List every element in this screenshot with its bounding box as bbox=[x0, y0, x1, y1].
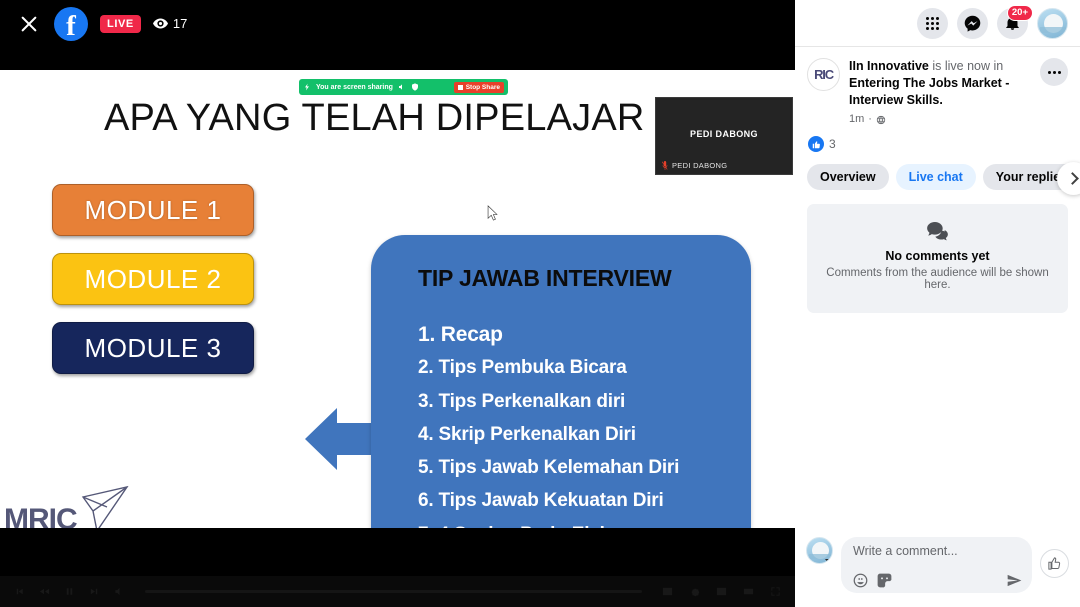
page-avatar[interactable]: RIC bbox=[807, 58, 840, 91]
microphone-muted-icon bbox=[662, 161, 668, 170]
module-box-1: MODULE 1 bbox=[52, 184, 254, 236]
tab-live-chat[interactable]: Live chat bbox=[896, 164, 976, 190]
sidebar-top-nav: 20+ bbox=[795, 0, 1080, 47]
messenger-icon[interactable] bbox=[957, 8, 988, 39]
theater-mode-icon[interactable] bbox=[743, 586, 754, 597]
mric-logo-text: MRIC bbox=[4, 503, 77, 528]
facebook-live-producer: f LIVE 17 APA YANG TELAH DIPELAJAR MODUL… bbox=[0, 0, 1080, 607]
left-arrow-icon bbox=[305, 408, 377, 470]
post-header: RIC IIn Innovative is live now in Enteri… bbox=[795, 47, 1080, 128]
video-player-controls[interactable] bbox=[0, 576, 795, 607]
close-icon[interactable] bbox=[16, 11, 42, 37]
tabs-next-icon[interactable] bbox=[1057, 162, 1080, 195]
eye-icon bbox=[153, 18, 168, 29]
shield-icon[interactable] bbox=[411, 83, 419, 91]
reaction-count: 3 bbox=[829, 137, 836, 151]
list-item: 6. Tips Jawab Kekuatan Diri bbox=[418, 484, 751, 517]
tab-overview[interactable]: Overview bbox=[807, 164, 889, 190]
notification-badge: 20+ bbox=[1007, 5, 1033, 21]
tips-card-heading: TIP JAWAB INTERVIEW bbox=[418, 265, 751, 292]
emoji-icon[interactable] bbox=[853, 573, 868, 588]
viewer-count-group: 17 bbox=[153, 16, 187, 31]
stop-share-label: Stop Share bbox=[466, 84, 500, 91]
module-box-2: MODULE 2 bbox=[52, 253, 254, 305]
seek-bar[interactable] bbox=[145, 590, 642, 593]
speaker-icon[interactable] bbox=[398, 83, 406, 91]
chevron-down-icon[interactable] bbox=[825, 559, 833, 564]
fullscreen-icon[interactable] bbox=[770, 586, 781, 597]
composer-icons bbox=[853, 573, 1022, 588]
module-list: MODULE 1 MODULE 2 MODULE 3 bbox=[52, 184, 254, 374]
viewer-count: 17 bbox=[173, 16, 187, 31]
globe-icon bbox=[876, 115, 886, 125]
slide-title: APA YANG TELAH DIPELAJAR bbox=[104, 97, 645, 140]
messenger-glyph bbox=[964, 15, 981, 32]
page-avatar-text: RIC bbox=[814, 67, 833, 82]
subtitles-icon[interactable] bbox=[662, 586, 673, 597]
module-box-3: MODULE 3 bbox=[52, 322, 254, 374]
screen-share-message: You are screen sharing bbox=[316, 84, 393, 91]
thumbs-up-icon bbox=[1047, 556, 1062, 571]
rewind-icon[interactable] bbox=[39, 586, 50, 597]
grid-dots bbox=[926, 17, 939, 30]
comments-empty-state: No comments yet Comments from the audien… bbox=[807, 204, 1068, 313]
sticker-icon[interactable] bbox=[877, 573, 892, 588]
facebook-logo-icon[interactable]: f bbox=[54, 7, 88, 41]
share-arrow-icon bbox=[303, 83, 311, 91]
composer-avatar[interactable] bbox=[806, 537, 833, 564]
avatar-band bbox=[1040, 27, 1067, 33]
empty-state-subtitle: Comments from the audience will be shown… bbox=[817, 267, 1058, 291]
list-item: 4. Skrip Perkenalkan Diri bbox=[418, 418, 751, 451]
live-status-text: is live now in bbox=[929, 59, 1003, 73]
pause-icon[interactable] bbox=[64, 586, 75, 597]
page-name[interactable]: IIn Innovative bbox=[849, 59, 929, 73]
stop-share-button[interactable]: Stop Share bbox=[454, 82, 504, 93]
notifications-icon[interactable]: 20+ bbox=[997, 8, 1028, 39]
list-item: 2. Tips Pembuka Bicara bbox=[418, 351, 751, 384]
post-time: 1m bbox=[849, 111, 864, 128]
chevron-right-icon bbox=[1066, 172, 1079, 185]
comment-input[interactable]: Write a comment... bbox=[853, 544, 1022, 558]
facebook-logo-letter: f bbox=[54, 11, 88, 41]
sidebar-tabs: Overview Live chat Your replies bbox=[795, 161, 1080, 200]
like-reaction-icon bbox=[808, 136, 824, 152]
apps-grid-icon[interactable] bbox=[917, 8, 948, 39]
post-meta: 1m · bbox=[849, 111, 1027, 128]
video-panel: f LIVE 17 APA YANG TELAH DIPELAJAR MODUL… bbox=[0, 0, 795, 607]
live-producer-sidebar: 20+ RIC IIn Innovative is live now in En… bbox=[795, 0, 1080, 607]
tips-card: TIP JAWAB INTERVIEW 1. Recap 2. Tips Pem… bbox=[371, 235, 751, 528]
comment-input-box[interactable]: Write a comment... bbox=[841, 537, 1032, 593]
volume-icon[interactable] bbox=[114, 586, 125, 597]
next-icon[interactable] bbox=[89, 586, 100, 597]
live-badge: LIVE bbox=[100, 15, 141, 33]
post-more-options-icon[interactable] bbox=[1040, 58, 1068, 86]
presenter-name-center: PEDI DABONG bbox=[656, 129, 792, 139]
player-controls-right bbox=[662, 586, 781, 597]
like-button[interactable] bbox=[1040, 549, 1069, 578]
mric-logo: MRIC bbox=[4, 485, 133, 528]
presenter-name-badge: PEDI DABONG bbox=[662, 161, 727, 170]
list-item: 1. Recap bbox=[418, 318, 751, 351]
stop-square-icon bbox=[458, 85, 463, 90]
empty-state-title: No comments yet bbox=[817, 249, 1058, 263]
list-item: 5. Tips Jawab Kelemahan Diri bbox=[418, 451, 751, 484]
comment-bubble-icon bbox=[927, 222, 948, 241]
settings-icon[interactable] bbox=[689, 586, 700, 597]
paper-plane-icon bbox=[77, 485, 133, 528]
event-title: Entering The Jobs Market - Interview Ski… bbox=[849, 76, 1009, 107]
picture-in-picture-icon[interactable] bbox=[716, 586, 727, 597]
comment-composer: Write a comment... bbox=[795, 527, 1080, 607]
presenter-thumbnail[interactable]: PEDI DABONG PEDI DABONG bbox=[655, 97, 793, 175]
list-item: 3. Tips Perkenalkan diri bbox=[418, 385, 751, 418]
meta-separator: · bbox=[868, 111, 872, 128]
mouse-cursor-icon bbox=[487, 205, 498, 221]
account-avatar[interactable] bbox=[1037, 8, 1068, 39]
presenter-name-corner: PEDI DABONG bbox=[672, 161, 727, 170]
reactions-row: 3 bbox=[795, 128, 1080, 161]
list-item: 7. 4 Soalan Perlu Elak bbox=[418, 518, 751, 528]
previous-icon[interactable] bbox=[14, 586, 25, 597]
post-description: IIn Innovative is live now in Entering T… bbox=[849, 58, 1031, 128]
live-top-bar: f LIVE 17 bbox=[0, 0, 795, 47]
send-icon[interactable] bbox=[1007, 573, 1022, 588]
screen-share-bar: You are screen sharing Stop Share bbox=[299, 79, 508, 95]
tips-list: 1. Recap 2. Tips Pembuka Bicara 3. Tips … bbox=[418, 318, 751, 528]
